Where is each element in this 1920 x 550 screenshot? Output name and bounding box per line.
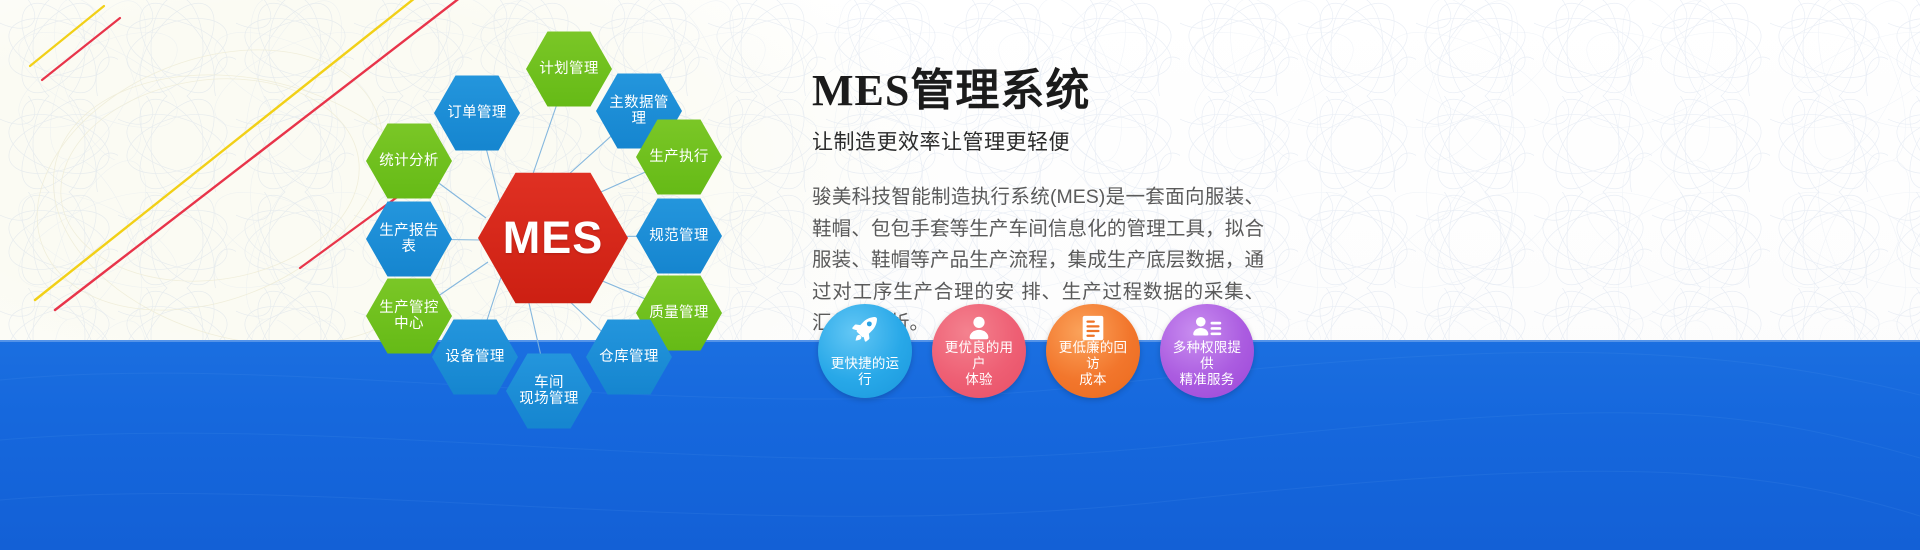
page-subtitle: 让制造更效率让管理更轻便 [812, 126, 1872, 156]
hex-node-label: 车间现场管理 [513, 375, 585, 407]
mes-hex-diagram: MES 计划管理主数据管理生产执行规范管理质量管理仓库管理车间现场管理设备管理生… [330, 12, 800, 442]
hex-node-label: 仓库管理 [593, 349, 665, 365]
feature-badge-4[interactable]: 多种权限提供精准服务 [1160, 304, 1254, 398]
banner-stage: MES 计划管理主数据管理生产执行规范管理质量管理仓库管理车间现场管理设备管理生… [0, 0, 1920, 550]
hex-core-label: MES [497, 213, 610, 263]
hex-node-label: 统计分析 [373, 153, 445, 169]
invoice-icon [1046, 313, 1140, 343]
rocket-icon [818, 313, 912, 343]
feature-badge-list: 更快捷的运行更优良的用户体验更低廉的回访成本多种权限提供精准服务 [818, 304, 1254, 398]
page-title: MES管理系统 [812, 54, 1872, 118]
feature-badge-3[interactable]: 更低廉的回访成本 [1046, 304, 1140, 398]
hex-node-label: 质量管理 [643, 305, 715, 321]
badge-label: 多种权限提供精准服务 [1160, 340, 1254, 398]
hex-node-label: 计划管理 [533, 61, 605, 77]
hex-node-label: 规范管理 [643, 228, 715, 244]
feature-badge-2[interactable]: 更优良的用户体验 [932, 304, 1026, 398]
hex-node-label: 设备管理 [439, 349, 511, 365]
banner-text-block: MES管理系统 让制造更效率让管理更轻便 骏美科技智能制造执行系统(MES)是一… [812, 54, 1872, 340]
badge-label: 更优良的用户体验 [932, 340, 1026, 398]
badge-label: 更快捷的运行 [818, 356, 912, 398]
hex-node-label: 生产执行 [643, 149, 715, 165]
feature-badge-1[interactable]: 更快捷的运行 [818, 304, 912, 398]
hex-node-label: 订单管理 [441, 105, 513, 121]
hex-node-label: 生产报告表 [366, 223, 452, 255]
user-icon [932, 313, 1026, 343]
user-list-icon [1160, 313, 1254, 343]
badge-label: 更低廉的回访成本 [1046, 340, 1140, 398]
hex-node-label: 生产管控中心 [373, 300, 445, 332]
